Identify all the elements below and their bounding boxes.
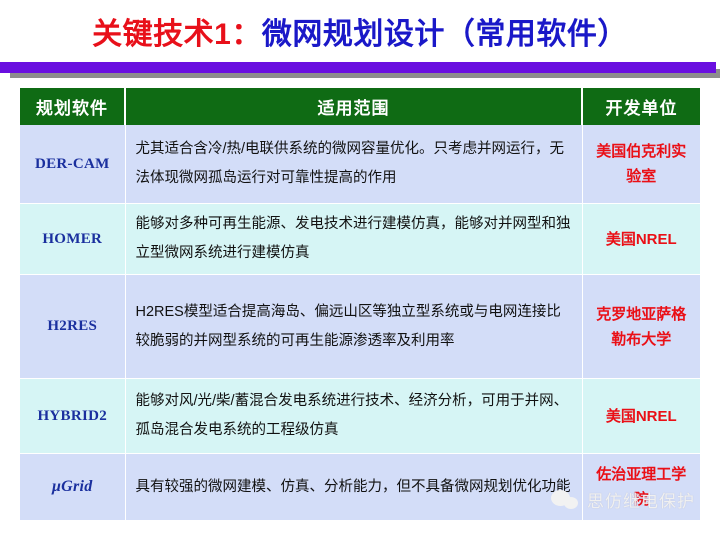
cell-software-name: μGrid xyxy=(20,454,125,521)
cell-scope: H2RES模型适合提高海岛、偏远山区等独立型系统或与电网连接比较脆弱的并网型系统… xyxy=(125,275,582,379)
column-header-scope: 适用范围 xyxy=(125,88,582,125)
column-header-software: 规划软件 xyxy=(20,88,125,125)
table-row: HOMER 能够对多种可再生能源、发电技术进行建模仿真，能够对并网型和独立型微网… xyxy=(20,204,700,275)
cell-software-name: HOMER xyxy=(20,204,125,275)
table-row: μGrid 具有较强的微网建模、仿真、分析能力，但不具备微网规划优化功能 佐治亚… xyxy=(20,454,700,521)
cell-scope: 具有较强的微网建模、仿真、分析能力，但不具备微网规划优化功能 xyxy=(125,454,582,521)
table-header-row: 规划软件 适用范围 开发单位 xyxy=(20,88,700,125)
page-title: 关键技术1：微网规划设计（常用软件） xyxy=(0,14,720,56)
cell-developer: 美国NREL xyxy=(582,204,700,275)
table-row: DER-CAM 尤其适合含冷/热/电联供系统的微网容量优化。只考虑并网运行，无法… xyxy=(20,125,700,204)
title-main: 微网规划设计（常用软件） xyxy=(262,18,628,51)
table-row: H2RES H2RES模型适合提高海岛、偏远山区等独立型系统或与电网连接比较脆弱… xyxy=(20,275,700,379)
cell-scope: 尤其适合含冷/热/电联供系统的微网容量优化。只考虑并网运行，无法体现微网孤岛运行… xyxy=(125,125,582,204)
cell-developer: 佐治亚理工学院 xyxy=(582,454,700,521)
cell-developer: 克罗地亚萨格勒布大学 xyxy=(582,275,700,379)
cell-developer: 美国NREL xyxy=(582,379,700,454)
cell-developer: 美国伯克利实验室 xyxy=(582,125,700,204)
title-prefix: 关键技术1： xyxy=(92,18,262,51)
cell-software-name: HYBRID2 xyxy=(20,379,125,454)
cell-scope: 能够对风/光/柴/蓄混合发电系统进行技术、经济分析，可用于并网、孤岛混合发电系统… xyxy=(125,379,582,454)
cell-software-name: H2RES xyxy=(20,275,125,379)
cell-scope: 能够对多种可再生能源、发电技术进行建模仿真，能够对并网型和独立型微网系统进行建模… xyxy=(125,204,582,275)
cell-software-name: DER-CAM xyxy=(20,125,125,204)
column-header-developer: 开发单位 xyxy=(582,88,700,125)
table-row: HYBRID2 能够对风/光/柴/蓄混合发电系统进行技术、经济分析，可用于并网、… xyxy=(20,379,700,454)
title-divider-bar xyxy=(0,62,716,73)
planning-software-table: 规划软件 适用范围 开发单位 DER-CAM 尤其适合含冷/热/电联供系统的微网… xyxy=(20,88,700,521)
